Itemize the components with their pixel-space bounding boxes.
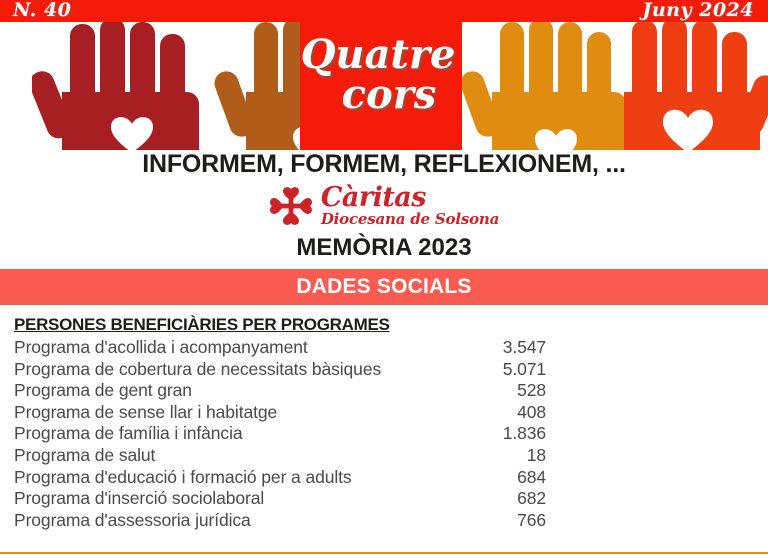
organization-name: Càritas bbox=[321, 184, 499, 211]
program-value: 528 bbox=[517, 380, 546, 402]
program-value: 5.071 bbox=[503, 359, 546, 381]
table-row: Programa de gent gran528 bbox=[14, 380, 546, 402]
caritas-cross-hearts-icon bbox=[269, 186, 313, 226]
program-label: Programa de salut bbox=[14, 445, 155, 467]
program-value: 408 bbox=[517, 402, 546, 424]
section-header-label: DADES SOCIALS bbox=[296, 275, 471, 299]
beneficiaries-table: PERSONES BENEFICIÀRIES PER PROGRAMES Pro… bbox=[14, 315, 546, 531]
organization-logo: Càritas Diocesana de Solsona bbox=[0, 184, 768, 227]
program-label: Programa de sense llar i habitatge bbox=[14, 402, 277, 424]
content-area: PERSONES BENEFICIÀRIES PER PROGRAMES Pro… bbox=[0, 305, 768, 553]
table-row: Programa de família i infància1.836 bbox=[14, 423, 546, 445]
masthead-logo-block: Quatre cors bbox=[300, 0, 462, 150]
program-label: Programa de família i infància bbox=[14, 423, 243, 445]
report-title: MEMÒRIA 2023 bbox=[0, 234, 768, 262]
issue-date: Juny 2024 bbox=[642, 0, 754, 21]
program-value: 1.836 bbox=[503, 423, 546, 445]
table-row: Programa d'assessoria jurídica766 bbox=[14, 510, 546, 532]
masthead-logo-line1: Quatre bbox=[301, 36, 456, 74]
footer-divider bbox=[0, 552, 768, 554]
table-row: Programa de sense llar i habitatge408 bbox=[14, 402, 546, 424]
masthead-logo-line2: cors bbox=[342, 76, 437, 114]
table-body: Programa d'acollida i acompanyament3.547… bbox=[14, 337, 546, 531]
section-header-bar: DADES SOCIALS bbox=[0, 269, 768, 305]
hand-dark-red-icon bbox=[32, 22, 212, 150]
program-value: 684 bbox=[517, 467, 546, 489]
program-label: Programa d'acollida i acompanyament bbox=[14, 337, 308, 359]
program-value: 3.547 bbox=[503, 337, 546, 359]
program-value: 766 bbox=[517, 510, 546, 532]
program-label: Programa d'inserció sociolaboral bbox=[14, 488, 264, 510]
program-value: 18 bbox=[527, 445, 546, 467]
hand-red-icon bbox=[596, 22, 768, 150]
masthead-strip: N. 40 Juny 2024 bbox=[0, 0, 768, 22]
organization-name-block: Càritas Diocesana de Solsona bbox=[321, 184, 499, 227]
program-label: Programa de cobertura de necessitats bàs… bbox=[14, 359, 381, 381]
table-row: Programa d'inserció sociolaboral682 bbox=[14, 488, 546, 510]
table-row: Programa de salut18 bbox=[14, 445, 546, 467]
newsletter-page: Quatre cors N. 40 Juny 2024 INFORMEM, FO… bbox=[0, 0, 768, 558]
table-row: Programa d'educació i formació per a adu… bbox=[14, 467, 546, 489]
table-row: Programa d'acollida i acompanyament3.547 bbox=[14, 337, 546, 359]
program-label: Programa d'assessoria jurídica bbox=[14, 510, 251, 532]
program-label: Programa d'educació i formació per a adu… bbox=[14, 467, 352, 489]
program-value: 682 bbox=[517, 488, 546, 510]
table-heading: PERSONES BENEFICIÀRIES PER PROGRAMES bbox=[14, 315, 546, 335]
issue-number: N. 40 bbox=[13, 0, 71, 21]
organization-subtitle: Diocesana de Solsona bbox=[321, 212, 499, 227]
table-row: Programa de cobertura de necessitats bàs… bbox=[14, 359, 546, 381]
program-label: Programa de gent gran bbox=[14, 380, 192, 402]
page-title: INFORMEM, FORMEM, REFLEXIONEM, ... bbox=[0, 150, 768, 179]
